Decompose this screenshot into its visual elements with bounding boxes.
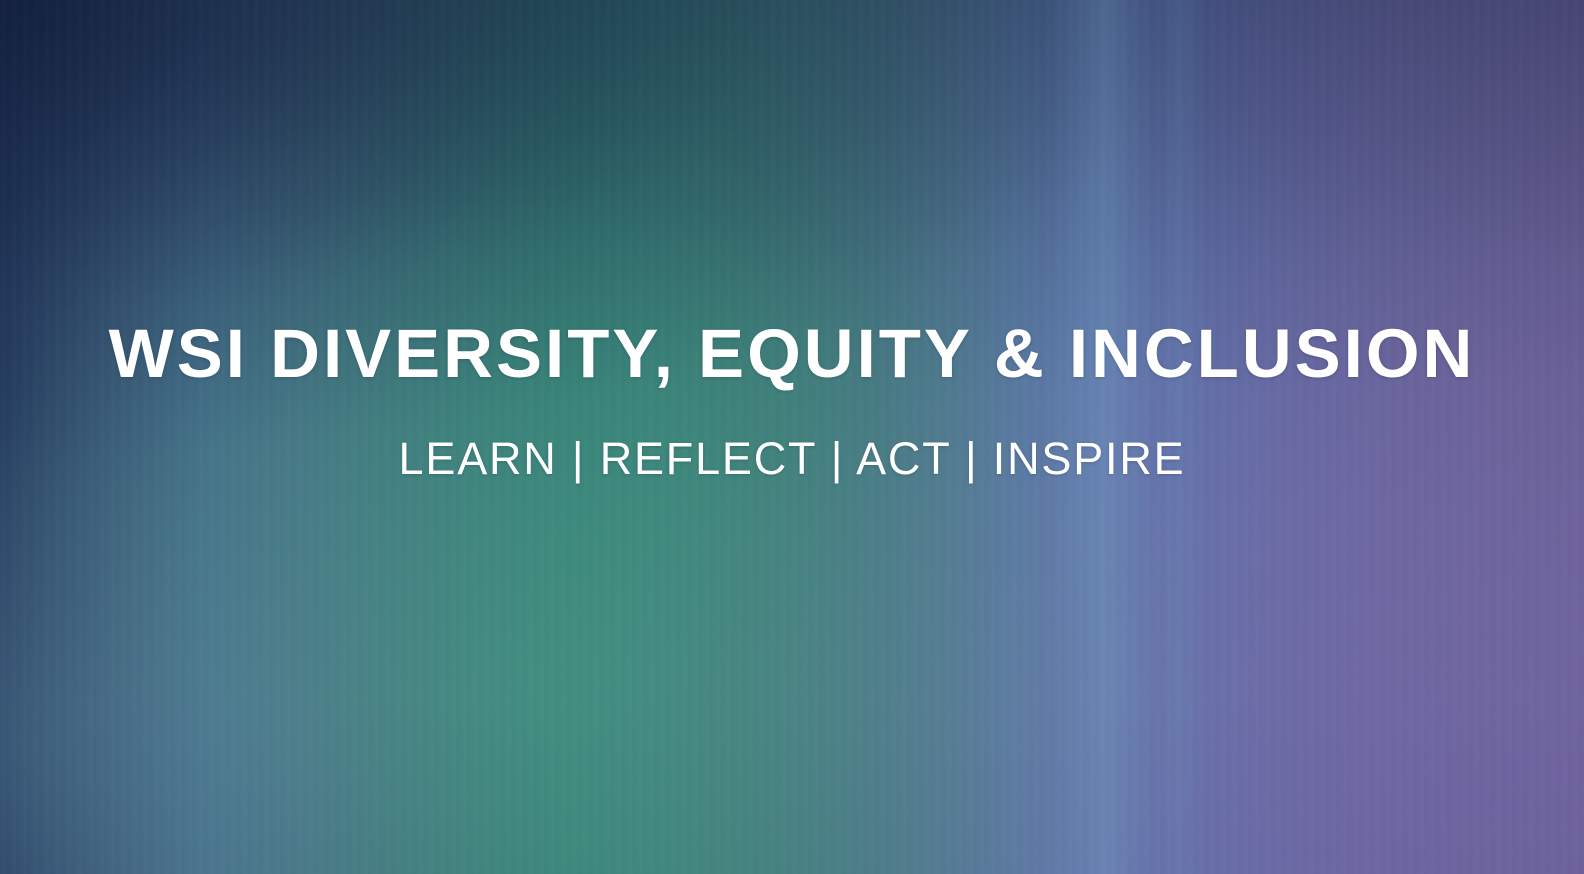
dei-hero-banner: WSI DIVERSITY, EQUITY & INCLUSION LEARN … bbox=[0, 0, 1584, 874]
banner-content: WSI DIVERSITY, EQUITY & INCLUSION LEARN … bbox=[0, 0, 1584, 874]
banner-tagline: LEARN | REFLECT | ACT | INSPIRE bbox=[0, 434, 1584, 484]
page-title: WSI DIVERSITY, EQUITY & INCLUSION bbox=[0, 318, 1584, 390]
